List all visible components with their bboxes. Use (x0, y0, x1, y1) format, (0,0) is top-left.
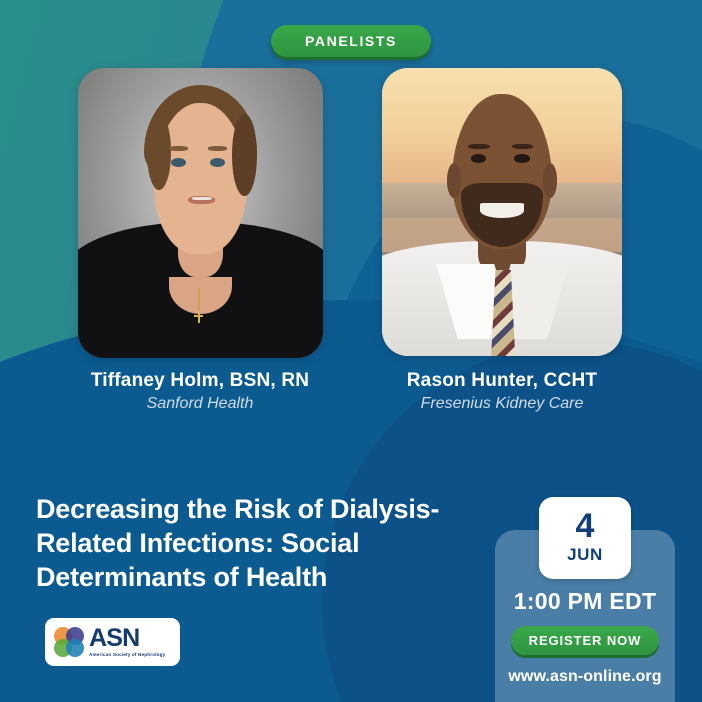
subject-teeth (192, 197, 212, 200)
event-day: 4 (576, 511, 595, 542)
subject-hair-right (232, 114, 257, 195)
panelists-badge: PANELISTS (271, 25, 431, 57)
panelist-name: Tiffaney Holm, BSN, RN (50, 370, 350, 392)
asn-logo: ASN American Society of Nephrology (45, 618, 180, 666)
panelist-photo-1 (78, 68, 323, 358)
asn-logo-text: ASN American Society of Nephrology (89, 626, 165, 658)
subject-eye-right (514, 154, 530, 163)
event-month: JUN (567, 545, 603, 565)
necklace-chain-icon (198, 288, 200, 310)
panelist-caption-1: Tiffaney Holm, BSN, RN Sanford Health (50, 370, 350, 413)
webinar-promo-graphic: PANELISTS (0, 0, 702, 702)
subject-hair-left (147, 114, 172, 189)
necklace-cross-icon (194, 312, 203, 323)
asn-wordmark: ASN (89, 626, 165, 651)
subject-smile (480, 203, 523, 217)
subject-brow-right (208, 146, 228, 151)
subject-ear-right (543, 163, 557, 198)
subject-brow-left (169, 146, 189, 151)
panelists-badge-wrap: PANELISTS (0, 25, 702, 57)
event-url[interactable]: www.asn-online.org (508, 668, 661, 686)
subject-ear-left (447, 163, 461, 198)
register-now-button[interactable]: REGISTER NOW (511, 626, 660, 655)
panelist-caption-2: Rason Hunter, CCHT Fresenius Kidney Care (352, 370, 652, 413)
asn-tagline: American Society of Nephrology (89, 653, 165, 658)
panelist-organization: Sanford Health (50, 395, 350, 413)
event-date-tile: 4 JUN (539, 497, 631, 579)
panelist-organization: Fresenius Kidney Care (352, 395, 652, 413)
event-time: 1:00 PM EDT (514, 588, 657, 615)
webinar-title: Decreasing the Risk of Dialysis-Related … (36, 492, 488, 594)
asn-circles-icon (54, 627, 84, 657)
panelist-photo-2 (382, 68, 622, 356)
panelist-name: Rason Hunter, CCHT (352, 370, 652, 392)
